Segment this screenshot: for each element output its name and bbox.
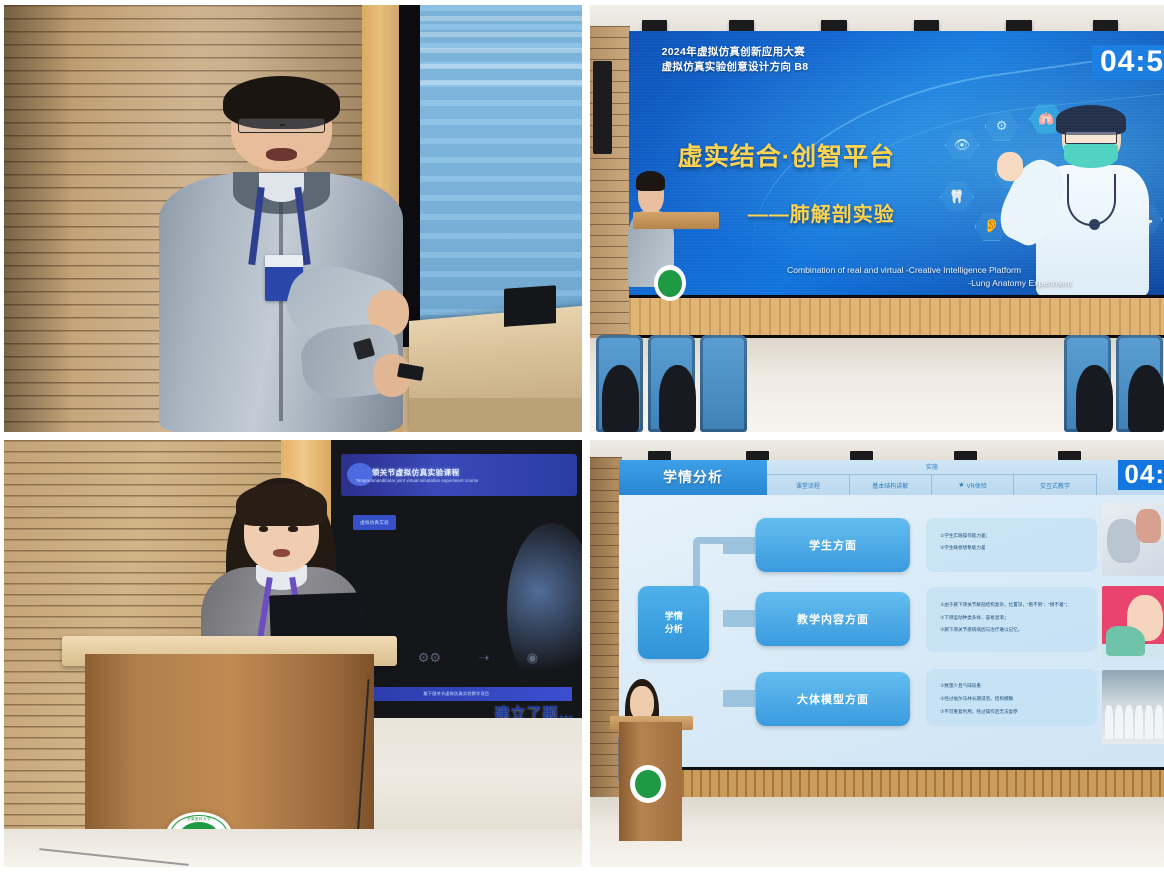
root-node: 学情 分析 <box>638 586 709 660</box>
pointer-icon: ➝ <box>478 650 489 666</box>
point: ①由于颞下颌关节解剖结构复杂，位置深，“看不到”、“摸不着”； <box>940 601 1083 610</box>
audience-head <box>659 365 696 432</box>
nav-tab-row: 课堂流程 基本结构讲解 ★ VR体验 交互式教学 <box>767 475 1096 495</box>
eye <box>288 526 298 532</box>
arrow-icon <box>723 610 756 627</box>
star-icon: ★ <box>958 481 964 489</box>
doctor-glasses-icon <box>1065 131 1117 144</box>
presenter-hair <box>636 171 666 191</box>
audience-head <box>1128 365 1164 432</box>
slide-main-title: 虚实结合·创智平台 <box>678 137 895 173</box>
ear-icon: 👂 <box>975 211 1009 241</box>
face-mask-icon <box>1064 144 1118 168</box>
doctor-hair <box>1056 105 1126 135</box>
course-title: 颞下颌关节虚拟仿真实验课程 Temporomandibular joint vi… <box>356 467 479 483</box>
slide-header-line1: 2024年虚拟仿真创新应用大赛 <box>662 45 809 60</box>
classroom-students-photo <box>1102 670 1164 744</box>
audience-head <box>1076 365 1113 432</box>
stomach-icon: ⚕ <box>1074 148 1108 178</box>
branch-points-model: ①数量少且气味较重 ②经过福尔马林长期浸泡，结构模糊 ③不可重复利用，经过操作后… <box>926 669 1096 726</box>
point: ①学生实践操作能力差； <box>940 532 1083 541</box>
floor <box>4 829 582 867</box>
slide-header: 2024年虚拟仿真创新应用大赛 虚拟仿真实验创意设计方向 B8 <box>662 45 809 75</box>
mouth <box>273 549 289 557</box>
point: ②经过福尔马林长期浸泡，结构模糊 <box>940 695 1083 704</box>
course-title-en: Temporomandibular joint virtual simulati… <box>356 478 479 483</box>
hex-icon-cluster: 👁 ⚙ 🫁 💧 🦷 👂 ⚕ 🦴 <box>920 100 1164 285</box>
syringe-icon: ⚙ <box>985 111 1019 141</box>
university-emblem <box>654 265 686 301</box>
audience-head <box>602 365 639 432</box>
panel-bottom-right: 学情分析 实施 课堂流程 基本结构讲解 ★ VR体验 交互式教学 特 <box>590 440 1164 867</box>
patient-cartoon-illustration <box>1102 586 1164 660</box>
led-presentation-screen: 👁 ⚙ 🫁 💧 🦷 👂 ⚕ 🦴 2024年虚拟仿真创新应 <box>629 31 1164 296</box>
laptop-icon <box>269 592 363 642</box>
english-line-1: Combination of real and virtual -Creativ… <box>787 265 1021 275</box>
nav-group-label: 实施 <box>767 460 1096 476</box>
root-node-line2: 分析 <box>665 623 683 635</box>
student-figure <box>1155 705 1163 739</box>
tab-basic-structure[interactable]: 基本结构讲解 <box>850 475 932 495</box>
slide-top-bar: 学情分析 实施 课堂流程 基本结构讲解 ★ VR体验 交互式教学 特 <box>619 460 1164 495</box>
student-figure <box>1105 705 1113 739</box>
mouth <box>266 148 297 160</box>
tab-vr-label: VR体验 <box>967 481 987 490</box>
glasses-icon <box>238 118 324 133</box>
panel-bottom-left: 颞下颌关节虚拟仿真实验课程 Temporomandibular joint vi… <box>4 440 582 867</box>
wall-speaker-icon <box>593 61 611 155</box>
slide-side-images <box>1102 503 1164 749</box>
analysis-slide: 学情分析 实施 课堂流程 基本结构讲解 ★ VR体验 交互式教学 特 <box>619 460 1164 767</box>
gears-icon: ⚙⚙ <box>418 650 441 666</box>
student-figure <box>1125 705 1133 739</box>
branch-label-content: 教学内容方面 <box>756 592 910 646</box>
screen-caption-bar: 颞下颌关节虚拟仿真实验教学项目 <box>341 687 572 701</box>
countdown-timer: 04:5 <box>1092 45 1164 80</box>
laptop-icon <box>504 285 556 327</box>
slide-english-subtitle: Combination of real and virtual -Creativ… <box>683 264 1125 290</box>
male-presenter <box>154 78 408 432</box>
lab-coat <box>1036 165 1150 297</box>
branch-points-content: ①由于颞下颌关节解剖结构复杂，位置深，“看不到”、“摸不着”； ②下颌运动种类多… <box>926 587 1096 652</box>
point: ②下颌运动种类多样，容易混淆； <box>940 614 1083 623</box>
english-line-2: -Lung Anatomy Experiment <box>683 277 1125 290</box>
audience-seating <box>590 304 1164 432</box>
decorative-swoosh <box>781 89 1164 296</box>
branch-points-students: ①学生实践操作能力差； ②学生联想想象能力差 <box>926 518 1096 572</box>
panel-top-left <box>4 5 582 432</box>
tmj-anatomy-diagram <box>1102 503 1164 577</box>
doctor-arm <box>991 152 1075 251</box>
doctor-illustration <box>1028 111 1157 296</box>
tab-vr-experience[interactable]: ★ VR体验 <box>932 475 1014 495</box>
stethoscope-icon <box>1067 174 1116 226</box>
emblem-name-cn: 安徽医科大学 <box>171 817 226 822</box>
arrow-icon <box>723 537 756 554</box>
countdown-timer: 04: <box>1118 460 1164 490</box>
chair <box>700 335 747 432</box>
doctor-head <box>1062 111 1121 167</box>
root-node-line1: 学情 <box>665 610 683 622</box>
stage-front-panel <box>619 767 1164 797</box>
emblem-disc <box>658 270 682 297</box>
branch-label-model: 大体模型方面 <box>756 672 910 726</box>
globe-icon: ◉ <box>527 650 538 666</box>
eye-icon: 👁 <box>945 130 979 160</box>
photo-grid: 👁 ⚙ 🫁 💧 🦷 👂 ⚕ 🦴 2024年虚拟仿真创新应 <box>0 0 1164 873</box>
slide-nav: 实施 课堂流程 基本结构讲解 ★ VR体验 交互式教学 <box>767 460 1096 495</box>
tooth-icon: 🦷 <box>940 182 974 212</box>
point: ①数量少且气味较重 <box>940 682 1083 691</box>
screen-header-bar: 颞下颌关节虚拟仿真实验课程 Temporomandibular joint vi… <box>341 454 577 496</box>
emblem-disc <box>635 770 661 798</box>
student-figure <box>1135 705 1143 739</box>
panel-top-right: 👁 ⚙ 🫁 💧 🦷 👂 ⚕ 🦴 2024年虚拟仿真创新应 <box>590 5 1164 432</box>
arrow-icon <box>723 690 756 707</box>
point: ③颞下颌关节疾病病因与治疗难以记忆。 <box>940 626 1083 635</box>
tab-classroom-flow[interactable]: 课堂流程 <box>767 475 849 495</box>
doctor-hand <box>997 152 1023 182</box>
tab-interactive-teaching[interactable]: 交互式教学 <box>1014 475 1096 495</box>
point: ③不可重复利用，经过操作后无法复原 <box>940 708 1083 717</box>
lungs-icon: 🫁 <box>1029 104 1063 134</box>
decorative-swoosh <box>733 50 1164 297</box>
slide-header-line2: 虚拟仿真实验创意设计方向 B8 <box>662 60 809 75</box>
hair-top <box>236 483 327 527</box>
jacket-zipper <box>279 202 283 422</box>
bone-icon: 🦴 <box>1128 204 1162 234</box>
slide-section-title: 学情分析 <box>619 460 767 495</box>
student-figure <box>1145 705 1153 739</box>
droplet-icon: 💧 <box>995 160 1029 190</box>
desk-front <box>409 398 582 432</box>
university-emblem <box>630 765 666 803</box>
illustration-desk <box>1102 644 1164 660</box>
branch-label-students: 学生方面 <box>756 518 910 572</box>
point: ②学生联想想象能力差 <box>940 544 1083 553</box>
student-figure <box>1115 705 1123 739</box>
slide-subtitle: ——肺解剖实验 <box>748 198 895 227</box>
